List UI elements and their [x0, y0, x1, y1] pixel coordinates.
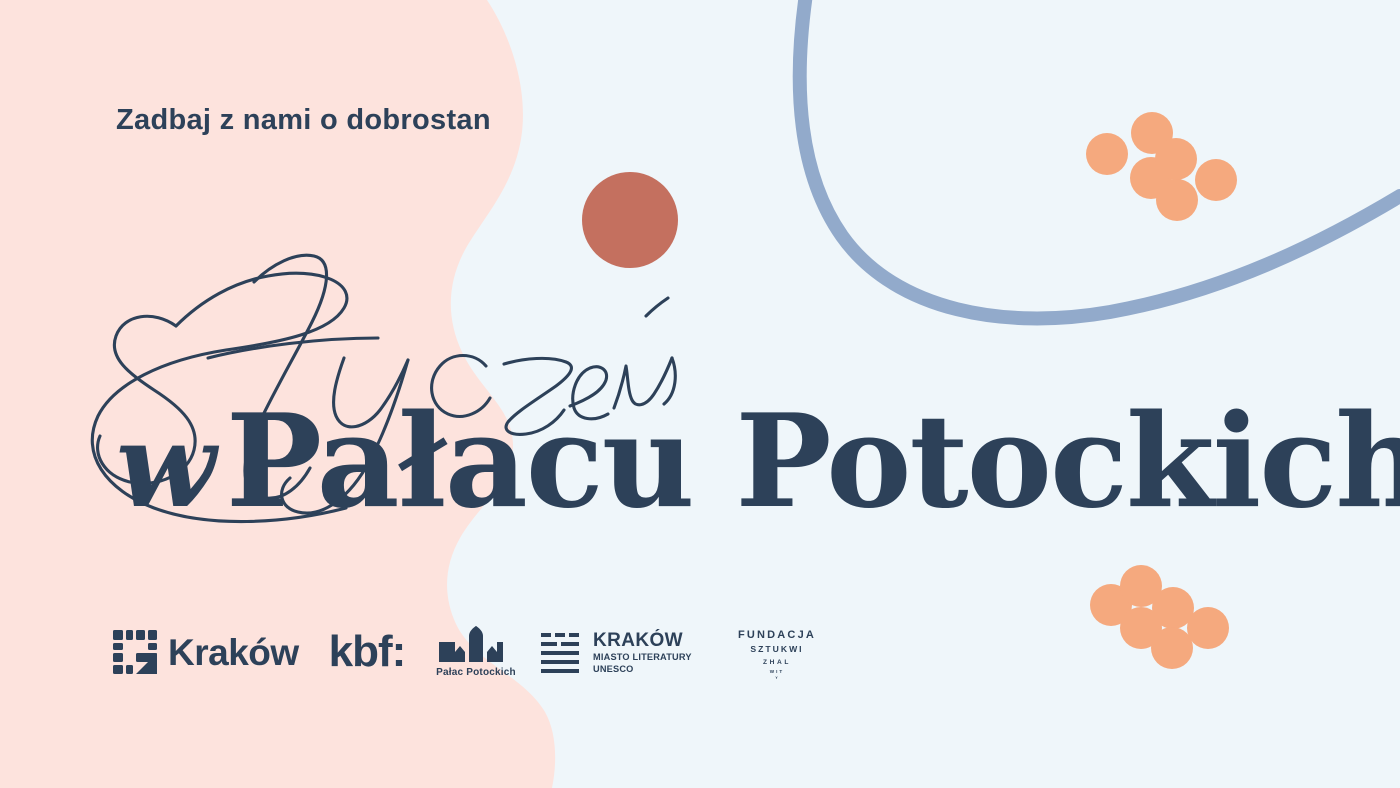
logo-kbf-label: kbf: — [329, 630, 406, 674]
page-title: wPałacu Potockich — [116, 398, 1400, 526]
fundacja-wordmark-icon: FUNDACJA SZTUKWI ZHAL WIT Y — [731, 624, 823, 680]
tagline: Zadbaj z nami o dobrostan — [116, 104, 491, 137]
logo-palac-potockich[interactable]: Pałac Potockich — [433, 612, 519, 692]
svg-text:ZHAL: ZHAL — [763, 659, 791, 666]
palac-crown-icon: Pałac Potockich — [433, 626, 519, 678]
logo-strip: Kraków kbf: Pałac Potockich — [112, 612, 823, 692]
logo-unesco-city-of-literature[interactable]: KRAKÓW MIASTO LITERATURY UNESCO — [541, 612, 709, 692]
krakow-grid-icon — [112, 629, 158, 675]
logo-krakow-label: Kraków — [168, 634, 299, 671]
unesco-wordmark: KRAKÓW MIASTO LITERATURY UNESCO — [593, 629, 709, 675]
logo-kbf[interactable]: kbf: — [329, 612, 406, 692]
svg-text:Y: Y — [776, 676, 779, 680]
headline-main: Pałacu Potockich — [226, 387, 1400, 537]
svg-text:Pałac Potockich: Pałac Potockich — [436, 667, 516, 678]
svg-text:WIT: WIT — [770, 669, 784, 674]
headline-prefix-w: w — [116, 398, 226, 534]
svg-text:UNESCO: UNESCO — [593, 664, 634, 674]
poster-canvas: Zadbaj z nami o dobrostan — [0, 0, 1400, 788]
logo-krakow[interactable]: Kraków — [112, 612, 299, 692]
svg-text:MIASTO LITERATURY: MIASTO LITERATURY — [593, 652, 692, 662]
logo-fundacja-sztukwi[interactable]: FUNDACJA SZTUKWI ZHAL WIT Y — [731, 612, 823, 692]
svg-text:SZTUKWI: SZTUKWI — [751, 644, 804, 654]
svg-text:KRAKÓW: KRAKÓW — [593, 629, 683, 651]
svg-text:FUNDACJA: FUNDACJA — [738, 629, 816, 641]
unesco-bars-icon — [541, 631, 585, 673]
